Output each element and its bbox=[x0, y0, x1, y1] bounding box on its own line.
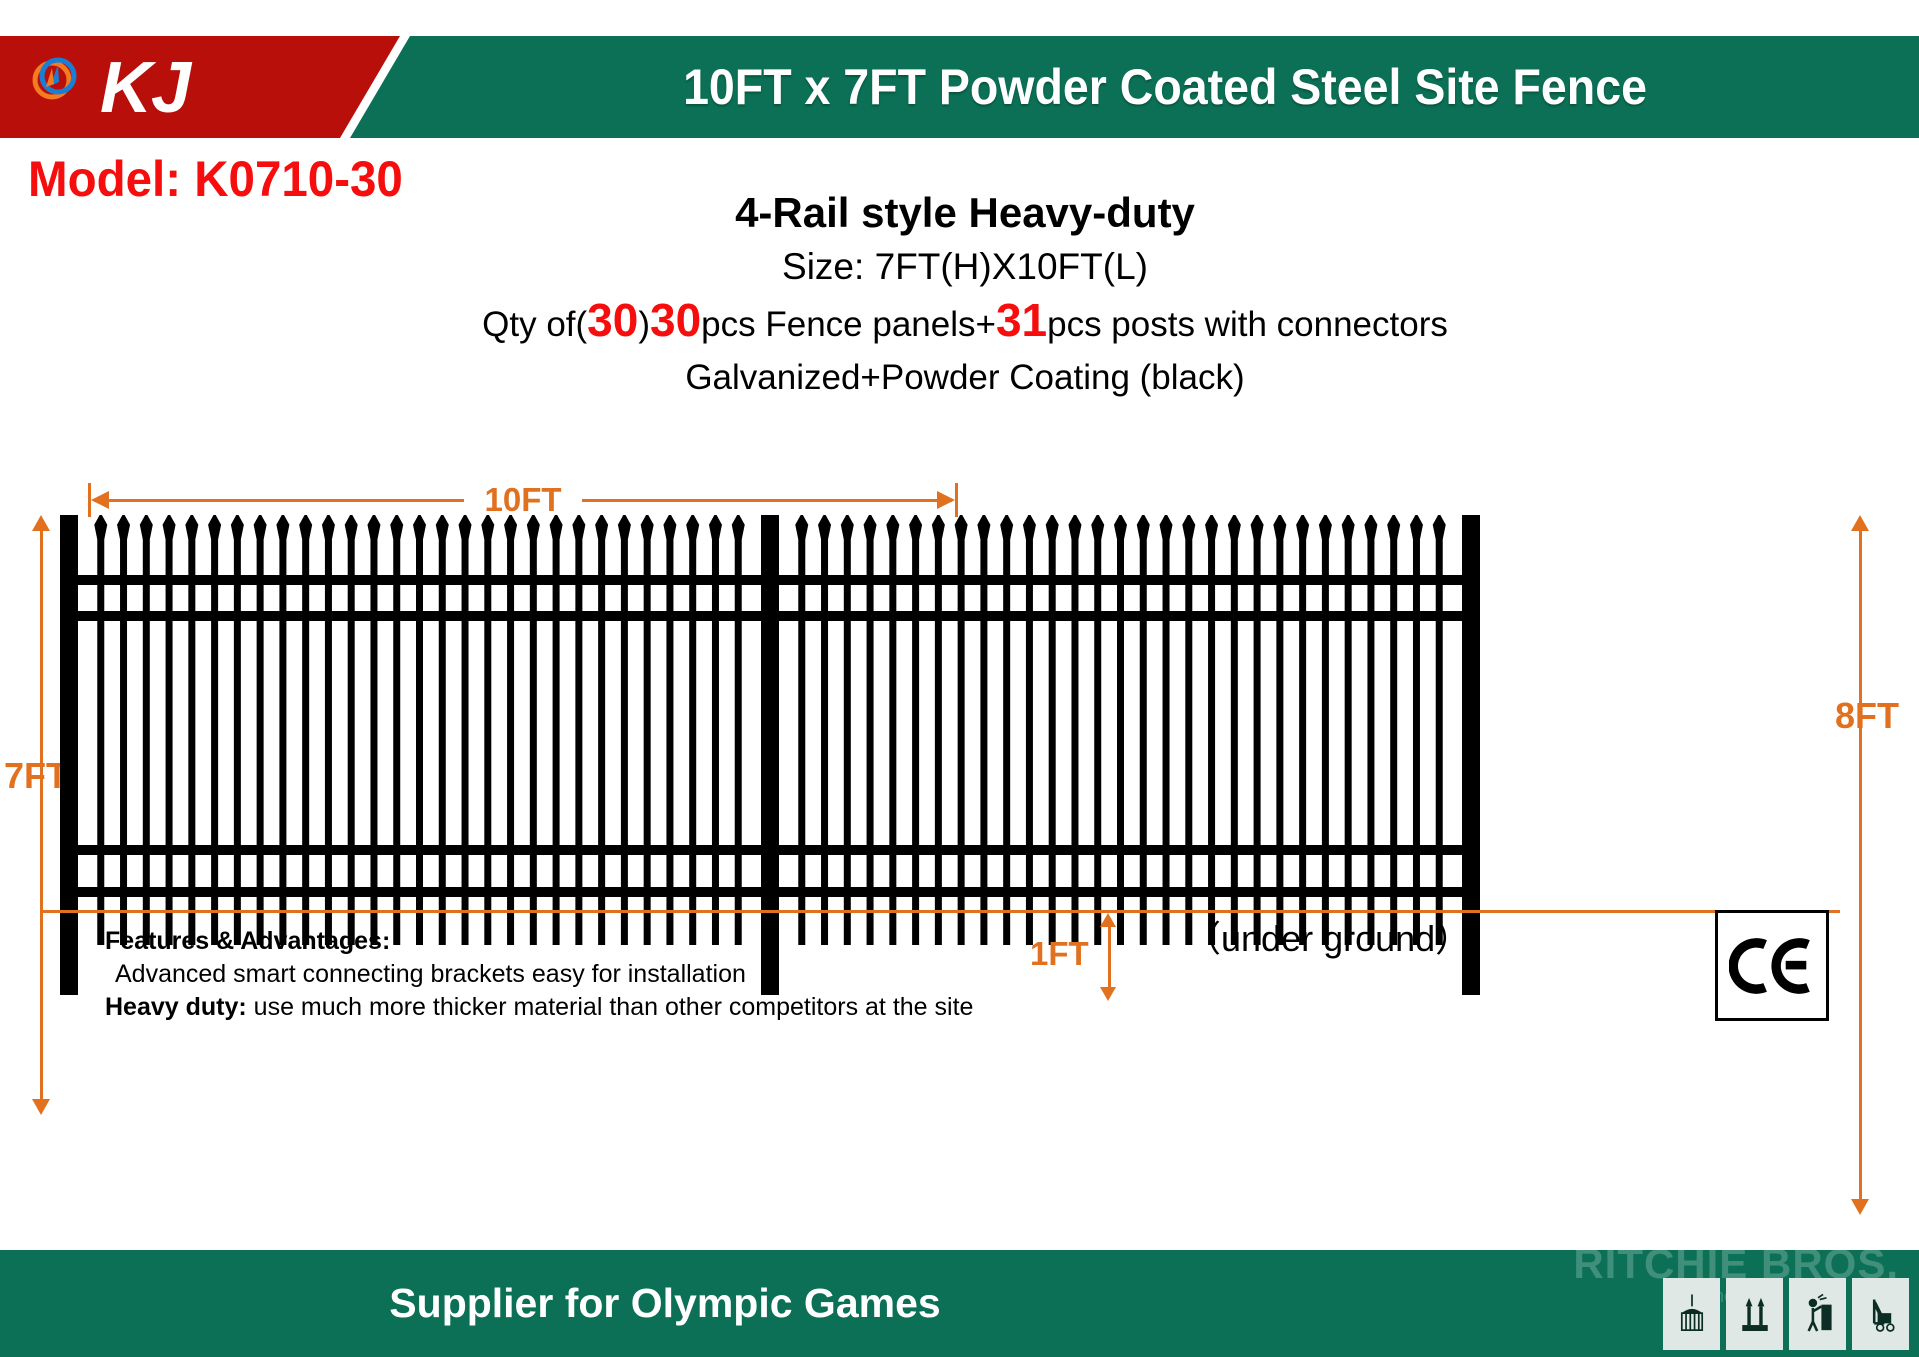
dim-line-vertical bbox=[1108, 919, 1111, 995]
spec-style-line: 4-Rail style Heavy-duty bbox=[300, 185, 1630, 241]
dimension-height-7ft bbox=[22, 515, 62, 1115]
qty-panel-count: 30 bbox=[650, 294, 701, 346]
dim-height-left-label: 7FT bbox=[4, 755, 68, 797]
spec-qty-line: Qty of(30)30pcs Fence panels+31pcs posts… bbox=[300, 293, 1630, 352]
spec-sheet: KJ 10FT x 7FT Powder Coated Steel Site F… bbox=[0, 0, 1919, 1357]
ground-line bbox=[40, 910, 1840, 913]
qty-post-count: 31 bbox=[996, 294, 1047, 346]
features-heading: Features & Advantages: bbox=[105, 925, 973, 958]
spec-size-line: Size: 7FT(H)X10FT(L) bbox=[300, 241, 1630, 293]
qty-panels-text: pcs Fence panels+ bbox=[701, 305, 996, 344]
page-footer: Supplier for Olympic Games RITCHIE BROS.… bbox=[0, 1250, 1919, 1357]
arrows-up-icon bbox=[1726, 1278, 1783, 1350]
fence-diagram: 10FT 7FT 8FT 1FT （under ground） Features… bbox=[0, 470, 1919, 1230]
footer-tagline: Supplier for Olympic Games bbox=[0, 1250, 1330, 1357]
kj-logo-icon bbox=[28, 52, 82, 106]
features-line-1: Advanced smart connecting brackets easy … bbox=[105, 958, 973, 991]
forklift-icon bbox=[1852, 1278, 1909, 1350]
dimension-height-8ft bbox=[1841, 515, 1881, 1215]
qty-prefix: Qty of( bbox=[482, 305, 587, 344]
dim-line-vertical bbox=[1859, 523, 1862, 1207]
dim-arrow-up-icon bbox=[32, 515, 50, 531]
dim-line-vertical bbox=[40, 523, 43, 1107]
ce-mark-icon bbox=[1715, 910, 1829, 1021]
page-header: KJ 10FT x 7FT Powder Coated Steel Site F… bbox=[0, 36, 1919, 138]
dim-underground-label: 1FT bbox=[1030, 935, 1089, 973]
features-line-2: Heavy duty: use much more thicker materi… bbox=[105, 991, 973, 1024]
dim-arrow-down-icon bbox=[32, 1099, 50, 1115]
qty-posts-text: pcs posts with connectors bbox=[1047, 305, 1448, 344]
page-title: 10FT x 7FT Powder Coated Steel Site Fenc… bbox=[472, 36, 1858, 138]
dimension-width-10ft: 10FT bbox=[88, 483, 958, 517]
worker-cargo-icon bbox=[1789, 1278, 1846, 1350]
crate-hoist-icon bbox=[1663, 1278, 1720, 1350]
spec-block: 4-Rail style Heavy-duty Size: 7FT(H)X10F… bbox=[300, 185, 1630, 404]
watermark-icon-row bbox=[1663, 1278, 1909, 1350]
underground-note: （under ground） bbox=[1185, 910, 1471, 962]
features-block: Features & Advantages: Advanced smart co… bbox=[105, 925, 973, 1024]
dimension-underground-1ft bbox=[1095, 913, 1125, 1001]
brand-wordmark: KJ bbox=[100, 44, 190, 132]
qty-paren-count: 30 bbox=[587, 294, 638, 346]
heavy-duty-label: Heavy duty: bbox=[105, 993, 247, 1021]
heavy-duty-text: use much more thicker material than othe… bbox=[247, 993, 974, 1021]
dim-arrow-up-icon bbox=[1100, 913, 1116, 927]
dim-arrow-down-icon bbox=[1851, 1199, 1869, 1215]
spec-coating-line: Galvanized+Powder Coating (black) bbox=[300, 352, 1630, 404]
qty-mid: ) bbox=[638, 305, 650, 344]
dim-arrow-down-icon bbox=[1100, 987, 1116, 1001]
dim-height-right-label: 8FT bbox=[1835, 695, 1899, 737]
dim-arrow-up-icon bbox=[1851, 515, 1869, 531]
